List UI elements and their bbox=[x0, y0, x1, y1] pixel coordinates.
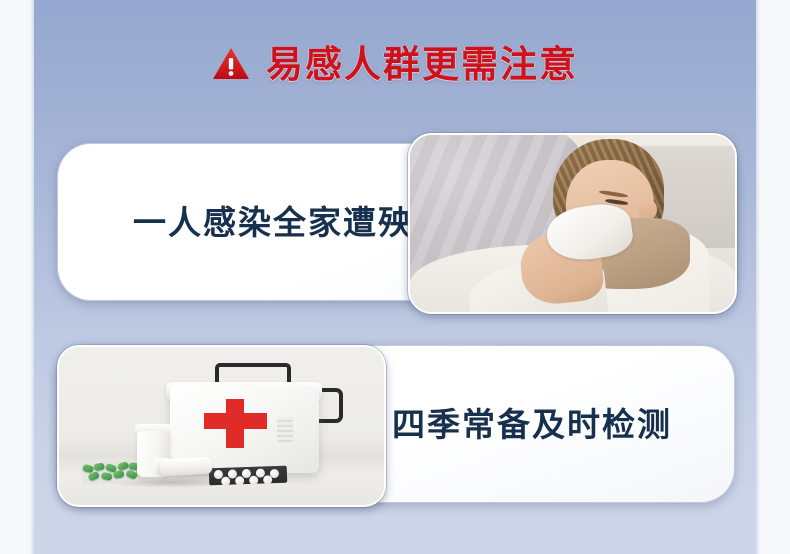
header: 易感人群更需注意 bbox=[0, 38, 790, 90]
sick-girl-blowing-nose-photo bbox=[410, 135, 735, 312]
warning-triangle-icon bbox=[212, 47, 250, 81]
red-cross-icon-bar bbox=[204, 413, 267, 429]
card-1-text: 一人感染全家遭殃 bbox=[133, 206, 413, 239]
photo-card-2: 白色急救药箱、药瓶与绿色胶囊板 bbox=[57, 345, 386, 507]
feature-row-2: 四季常备及时检测 bbox=[0, 343, 790, 508]
feature-row-1: 一人感染全家遭殃 生病女孩坐在沙发上用纸巾擤鼻涕 bbox=[0, 133, 790, 318]
page-title: 易感人群更需注意 bbox=[266, 46, 578, 83]
promo-banner: 易感人群更需注意 一人感染全家遭殃 bbox=[0, 0, 790, 554]
card-2-text: 四季常备及时检测 bbox=[392, 408, 672, 441]
first-aid-kit-photo bbox=[59, 347, 384, 505]
photo-card-1: 生病女孩坐在沙发上用纸巾擤鼻涕 bbox=[408, 133, 737, 314]
